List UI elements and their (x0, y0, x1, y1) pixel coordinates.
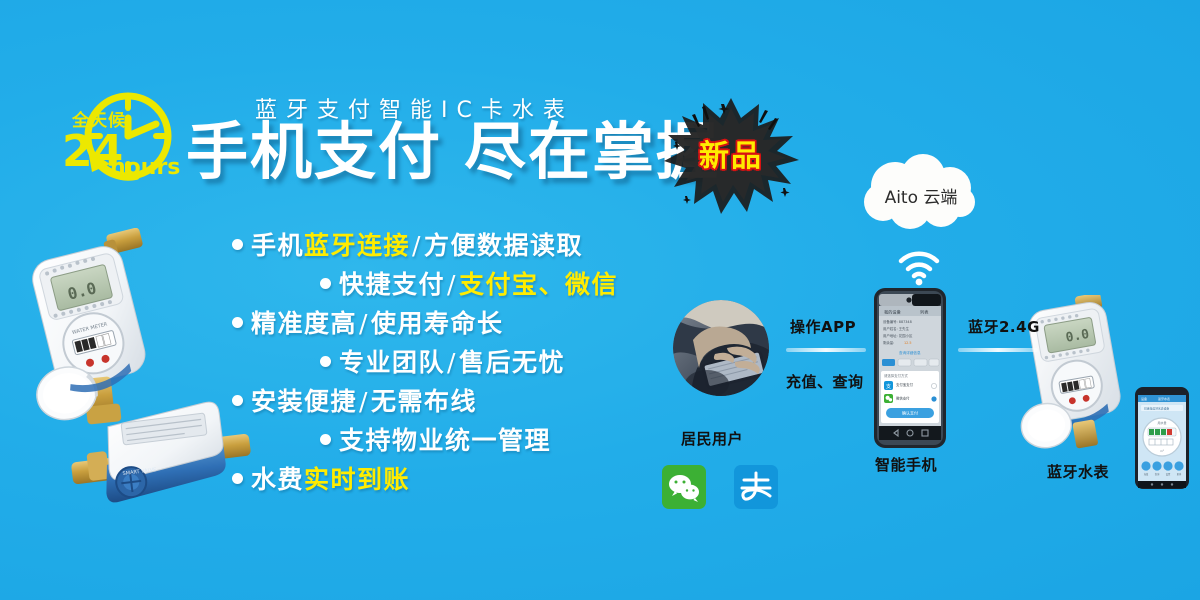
svg-text:查询详细信息: 查询详细信息 (899, 350, 921, 355)
svg-text:用户地址: 花园小区: 用户地址: 花园小区 (883, 333, 913, 338)
feature-pre: 专业团队 (339, 350, 445, 375)
label-bluetooth-meter: 蓝牙水表 (1047, 461, 1109, 482)
label-bluetooth: 蓝牙2.4G (968, 316, 1040, 337)
svg-text:m³: m³ (1160, 449, 1164, 453)
svg-text:蓝牙水表: 蓝牙水表 (1158, 396, 1170, 401)
feature-item: 专业团队 / 售后无忧 (232, 350, 702, 375)
feature-highlight: 蓝牙连接 (304, 233, 410, 258)
feature-sep: / (445, 350, 459, 375)
svg-text:用水量: 用水量 (1157, 420, 1166, 425)
svg-text:支: 支 (886, 382, 891, 390)
feature-item: 支持物业统一管理 (232, 428, 702, 453)
svg-text:列表: 列表 (920, 309, 929, 316)
wifi-node (895, 248, 943, 286)
cloud-label: Aito 云端 (855, 153, 987, 237)
new-product-label: 新品 (655, 88, 807, 218)
feature-post: 无需布线 (371, 389, 477, 414)
feature-item: 水费实时到账 (232, 467, 702, 492)
svg-text:微信支付: 微信支付 (896, 396, 910, 401)
svg-text:支付宝支付: 支付宝支付 (896, 382, 914, 387)
feature-pre: 支持物业统一管理 (339, 428, 551, 453)
feature-item: 快捷支付 / 支付宝、微信 (232, 272, 702, 297)
svg-text:设备编号: 887348: 设备编号: 887348 (883, 319, 912, 324)
svg-text:我的设备: 我的设备 (884, 309, 902, 316)
feature-sep: / (357, 311, 371, 336)
feature-list: 手机蓝牙连接 / 方便数据读取 快捷支付 / 支付宝、微信 精准度高 / 使用寿… (232, 233, 702, 506)
svg-text:请选择支付方式: 请选择支付方式 (884, 373, 908, 378)
feature-post: 使用寿命长 (371, 311, 504, 336)
feature-highlight: 实时到账 (304, 467, 410, 492)
svg-text:12.5: 12.5 (904, 341, 912, 345)
svg-text:确认支付: 确认支付 (902, 410, 918, 416)
cloud-node: Aito 云端 (855, 152, 987, 236)
ic-card-water-meter-vertical: 0.0 (3, 228, 183, 440)
feature-pre: 安装便捷 (251, 389, 357, 414)
label-smartphone: 智能手机 (875, 454, 937, 475)
svg-text:剩余量:: 剩余量: (883, 340, 894, 345)
feature-post: 售后无忧 (459, 350, 565, 375)
feature-pre: 水费 (251, 467, 304, 492)
svg-text:充值: 充值 (1144, 472, 1149, 476)
product-images: 0.0 (0, 228, 252, 518)
label-resident-user: 居民用户 (681, 428, 743, 449)
feature-pre: 快捷支付 (339, 272, 445, 297)
label-operate-app: 操作APP (790, 316, 856, 337)
connector-phone-to-meter (958, 348, 1038, 352)
svg-text:查询: 查询 (1155, 472, 1160, 476)
svg-text:已连接蓝牙水表设备: 已连接蓝牙水表设备 (1144, 406, 1169, 410)
banner-title-part1: 手机支付 (186, 115, 442, 188)
feature-pre: 手机 (251, 233, 304, 258)
feature-highlight: 支付宝、微信 (459, 272, 618, 297)
banner-title: 手机支付尽在掌握 (186, 121, 720, 183)
feature-sep: / (410, 233, 424, 258)
bullet-dot-icon (320, 434, 331, 445)
feature-sep: / (445, 272, 459, 297)
clock-refresh-icon: 全天候 24 hours (48, 82, 188, 194)
promotional-banner: 全天候 24 hours 蓝牙支付智能IC卡水表 手机支付尽在掌握 (0, 0, 1200, 600)
feature-sep: / (357, 389, 371, 414)
resident-user-photo (673, 300, 769, 396)
feature-item: 安装便捷 / 无需布线 (232, 389, 702, 414)
alipay-icon (734, 465, 778, 509)
feature-pre: 精准度高 (251, 311, 357, 336)
smartphone-icon: 我的设备 列表 设备编号: 887348 用户姓名: 王先生 用户地址: 花园小… (872, 286, 948, 450)
new-product-badge: 新品 (655, 92, 807, 222)
bullet-dot-icon (320, 356, 331, 367)
hands-holding-phone-photo (673, 300, 769, 396)
connector-user-to-phone (786, 348, 866, 352)
smartphone-center: 我的设备 列表 设备编号: 887348 用户姓名: 王先生 用户地址: 花园小… (872, 286, 948, 450)
svg-text:设备: 设备 (1141, 396, 1147, 401)
feature-item: 手机蓝牙连接 / 方便数据读取 (232, 233, 702, 258)
twentyfour-hours-badge: 全天候 24 hours (48, 82, 188, 194)
feature-item: 精准度高 / 使用寿命长 (232, 311, 702, 336)
svg-text:设置: 设置 (1166, 472, 1171, 476)
label-topup-query: 充值、查询 (786, 371, 864, 392)
smartphone-icon: 设备蓝牙水表 已连接蓝牙水表设备 用水量 m³ (1134, 386, 1190, 490)
svg-text:更多: 更多 (1177, 472, 1182, 476)
smartphone-meter-reading: 设备蓝牙水表 已连接蓝牙水表设备 用水量 m³ (1134, 386, 1190, 490)
feature-post: 方便数据读取 (424, 233, 583, 258)
svg-text:用户姓名: 王先生: 用户姓名: 王先生 (883, 326, 910, 331)
wechat-pay-icon (662, 465, 706, 509)
bullet-dot-icon (320, 278, 331, 289)
badge-unit: hours (110, 155, 180, 180)
wifi-icon (895, 248, 943, 286)
